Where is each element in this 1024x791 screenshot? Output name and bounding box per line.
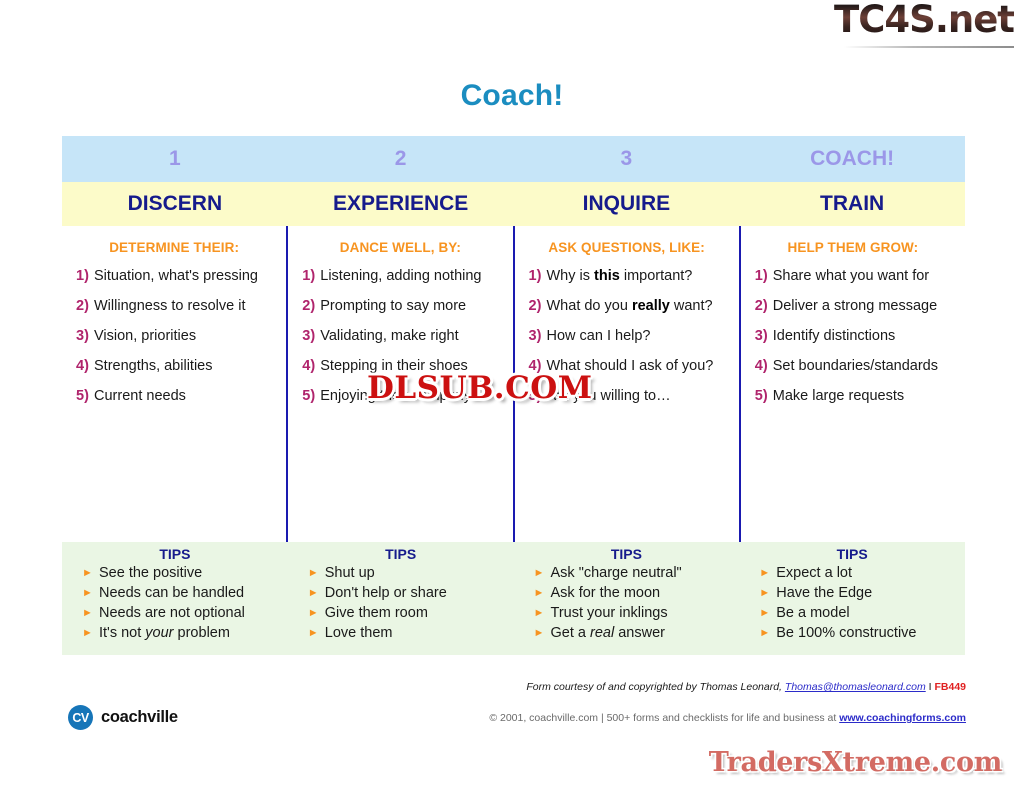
tip-item: ►Be 100% constructive <box>759 623 959 643</box>
tip-item: ►Needs are not optional <box>82 603 282 623</box>
tip-text: Be a model <box>776 603 849 623</box>
list-item: 2)Deliver a strong message <box>755 297 957 315</box>
tip-text: Ask for the moon <box>551 583 661 603</box>
item-number: 5) <box>76 387 94 405</box>
step-number-band: 1 2 3 COACH! <box>62 136 965 182</box>
tips-band: TIPS ►See the positive ►Needs can be han… <box>62 542 965 655</box>
credit-prefix: Form courtesy of and copyrighted by Thom… <box>526 681 782 693</box>
step-name-experience: EXPERIENCE <box>288 182 514 226</box>
triangle-bullet-icon: ► <box>534 623 551 643</box>
list-item: 5)Make large requests <box>755 387 957 405</box>
item-text: Vision, priorities <box>94 327 278 345</box>
triangle-bullet-icon: ► <box>308 603 325 623</box>
tip-item: ►Trust your inklings <box>534 603 734 623</box>
item-number: 5) <box>302 387 320 405</box>
tips-column-experience: TIPS ►Shut up ►Don't help or share ►Give… <box>288 542 514 655</box>
tip-item: ►Give them room <box>308 603 508 623</box>
cv-badge-icon: CV <box>68 705 93 730</box>
item-number: 1) <box>755 267 773 285</box>
triangle-bullet-icon: ► <box>82 563 99 583</box>
column-train: HELP THEM GROW: 1)Share what you want fo… <box>739 226 965 542</box>
item-text: What do you really want? <box>547 297 731 315</box>
list-item: 2)Willingness to resolve it <box>76 297 278 315</box>
tip-text: Shut up <box>325 563 375 583</box>
tips-heading: TIPS <box>745 542 959 563</box>
tip-item: ►Love them <box>308 623 508 643</box>
step-name-band: DISCERN EXPERIENCE INQUIRE TRAIN <box>62 182 965 226</box>
item-text: How can I help? <box>547 327 731 345</box>
triangle-bullet-icon: ► <box>308 563 325 583</box>
triangle-bullet-icon: ► <box>534 563 551 583</box>
tip-text: Don't help or share <box>325 583 447 603</box>
tip-text: Needs are not optional <box>99 603 245 623</box>
tip-item: ►It's not your problem <box>82 623 282 643</box>
tip-text: Ask "charge neutral" <box>551 563 682 583</box>
tip-text: It's not your problem <box>99 623 230 643</box>
tips-column-discern: TIPS ►See the positive ►Needs can be han… <box>62 542 288 655</box>
item-text: Make large requests <box>773 387 957 405</box>
item-list: 1)Situation, what's pressing 2)Willingne… <box>66 257 282 405</box>
step-number-2: 2 <box>288 136 514 182</box>
item-number: 2) <box>755 297 773 315</box>
item-text: Willingness to resolve it <box>94 297 278 315</box>
step-name-discern: DISCERN <box>62 182 288 226</box>
column-heading: DETERMINE THEIR: <box>66 226 282 257</box>
item-text: Set boundaries/standards <box>773 357 957 375</box>
triangle-bullet-icon: ► <box>82 583 99 603</box>
list-item: 1)Share what you want for <box>755 267 957 285</box>
tip-text: Trust your inklings <box>551 603 668 623</box>
triangle-bullet-icon: ► <box>759 583 776 603</box>
item-text: Share what you want for <box>773 267 957 285</box>
triangle-bullet-icon: ► <box>308 623 325 643</box>
item-number: 4) <box>302 357 320 375</box>
list-item: 1)Why is this important? <box>529 267 731 285</box>
list-item: 1)Situation, what's pressing <box>76 267 278 285</box>
tip-item: ►Expect a lot <box>759 563 959 583</box>
triangle-bullet-icon: ► <box>759 563 776 583</box>
step-number-3: 3 <box>514 136 740 182</box>
coachville-wordmark: coachville <box>101 708 178 727</box>
column-heading: ASK QUESTIONS, LIKE: <box>519 226 735 257</box>
tradersxtreme-watermark: TradersXtreme.com <box>709 747 1002 778</box>
item-list: 1)Share what you want for 2)Deliver a st… <box>745 257 961 405</box>
list-item: 4)Strengths, abilities <box>76 357 278 375</box>
tip-item: ►See the positive <box>82 563 282 583</box>
column-heading: HELP THEM GROW: <box>745 226 961 257</box>
list-item: 3)Validating, make right <box>302 327 504 345</box>
triangle-bullet-icon: ► <box>534 603 551 623</box>
item-number: 3) <box>529 327 547 345</box>
triangle-bullet-icon: ► <box>308 583 325 603</box>
tip-item: ►Don't help or share <box>308 583 508 603</box>
step-number-coach: COACH! <box>739 136 965 182</box>
dlsub-watermark: DLSUB.COM <box>367 370 593 406</box>
item-text: Current needs <box>94 387 278 405</box>
tip-text: Have the Edge <box>776 583 872 603</box>
column-discern: DETERMINE THEIR: 1)Situation, what's pre… <box>62 226 286 542</box>
credit-email-link[interactable]: Thomas@thomasleonard.com <box>785 681 926 693</box>
tips-list: ►Expect a lot ►Have the Edge ►Be a model… <box>745 563 959 643</box>
item-number: 1) <box>302 267 320 285</box>
item-number: 1) <box>529 267 547 285</box>
tip-text: Needs can be handled <box>99 583 244 603</box>
item-number: 2) <box>529 297 547 315</box>
tips-list: ►See the positive ►Needs can be handled … <box>68 563 282 643</box>
item-number: 4) <box>755 357 773 375</box>
column-heading: DANCE WELL, BY: <box>292 226 508 257</box>
item-number: 5) <box>755 387 773 405</box>
triangle-bullet-icon: ► <box>534 583 551 603</box>
tip-text: Love them <box>325 623 393 643</box>
credit-line: Form courtesy of and copyrighted by Thom… <box>526 681 966 693</box>
tip-text: Give them room <box>325 603 428 623</box>
step-name-inquire: INQUIRE <box>514 182 740 226</box>
copyright-text: © 2001, coachville.com | 500+ forms and … <box>489 712 836 724</box>
list-item: 2)What do you really want? <box>529 297 731 315</box>
coachingforms-link[interactable]: www.coachingforms.com <box>839 712 966 724</box>
tip-text: Expect a lot <box>776 563 852 583</box>
credit-form-code: FB449 <box>934 681 966 693</box>
item-text: Deliver a strong message <box>773 297 957 315</box>
tips-heading: TIPS <box>520 542 734 563</box>
tips-column-inquire: TIPS ►Ask "charge neutral" ►Ask for the … <box>514 542 740 655</box>
tip-text: See the positive <box>99 563 202 583</box>
triangle-bullet-icon: ► <box>759 603 776 623</box>
tips-list: ►Ask "charge neutral" ►Ask for the moon … <box>520 563 734 643</box>
tips-heading: TIPS <box>68 542 282 563</box>
list-item: 4)Set boundaries/standards <box>755 357 957 375</box>
list-item: 1)Listening, adding nothing <box>302 267 504 285</box>
tc4s-logo-underline <box>844 46 1014 48</box>
credit-separator: I <box>929 681 932 693</box>
item-number: 3) <box>76 327 94 345</box>
copyright-line: © 2001, coachville.com | 500+ forms and … <box>489 712 966 724</box>
list-item: 3)How can I help? <box>529 327 731 345</box>
item-text: Why is this important? <box>547 267 731 285</box>
tips-column-train: TIPS ►Expect a lot ►Have the Edge ►Be a … <box>739 542 965 655</box>
step-number-1: 1 <box>62 136 288 182</box>
tip-item: ►Ask "charge neutral" <box>534 563 734 583</box>
item-text: Validating, make right <box>320 327 504 345</box>
item-number: 3) <box>755 327 773 345</box>
list-item: 2)Prompting to say more <box>302 297 504 315</box>
item-text: Listening, adding nothing <box>320 267 504 285</box>
tip-item: ►Ask for the moon <box>534 583 734 603</box>
tip-item: ►Have the Edge <box>759 583 959 603</box>
item-text: Situation, what's pressing <box>94 267 278 285</box>
coachville-logo[interactable]: CV coachville <box>68 705 178 730</box>
item-number: 4) <box>76 357 94 375</box>
page-title: Coach! <box>0 79 1024 113</box>
tip-text: Get a real answer <box>551 623 665 643</box>
step-name-train: TRAIN <box>739 182 965 226</box>
triangle-bullet-icon: ► <box>82 603 99 623</box>
triangle-bullet-icon: ► <box>82 623 99 643</box>
item-text: Identify distinctions <box>773 327 957 345</box>
item-number: 1) <box>76 267 94 285</box>
item-number: 2) <box>76 297 94 315</box>
tc4s-logo: TC4S.net <box>834 0 1014 41</box>
item-number: 2) <box>302 297 320 315</box>
list-item: 5)Current needs <box>76 387 278 405</box>
tip-item: ►Be a model <box>759 603 959 623</box>
list-item: 3)Identify distinctions <box>755 327 957 345</box>
triangle-bullet-icon: ► <box>759 623 776 643</box>
tips-heading: TIPS <box>294 542 508 563</box>
tip-text: Be 100% constructive <box>776 623 916 643</box>
item-text: Prompting to say more <box>320 297 504 315</box>
tip-item: ►Shut up <box>308 563 508 583</box>
tip-item: ►Needs can be handled <box>82 583 282 603</box>
tip-item: ►Get a real answer <box>534 623 734 643</box>
tips-list: ►Shut up ►Don't help or share ►Give them… <box>294 563 508 643</box>
item-text: Strengths, abilities <box>94 357 278 375</box>
list-item: 3)Vision, priorities <box>76 327 278 345</box>
item-number: 3) <box>302 327 320 345</box>
